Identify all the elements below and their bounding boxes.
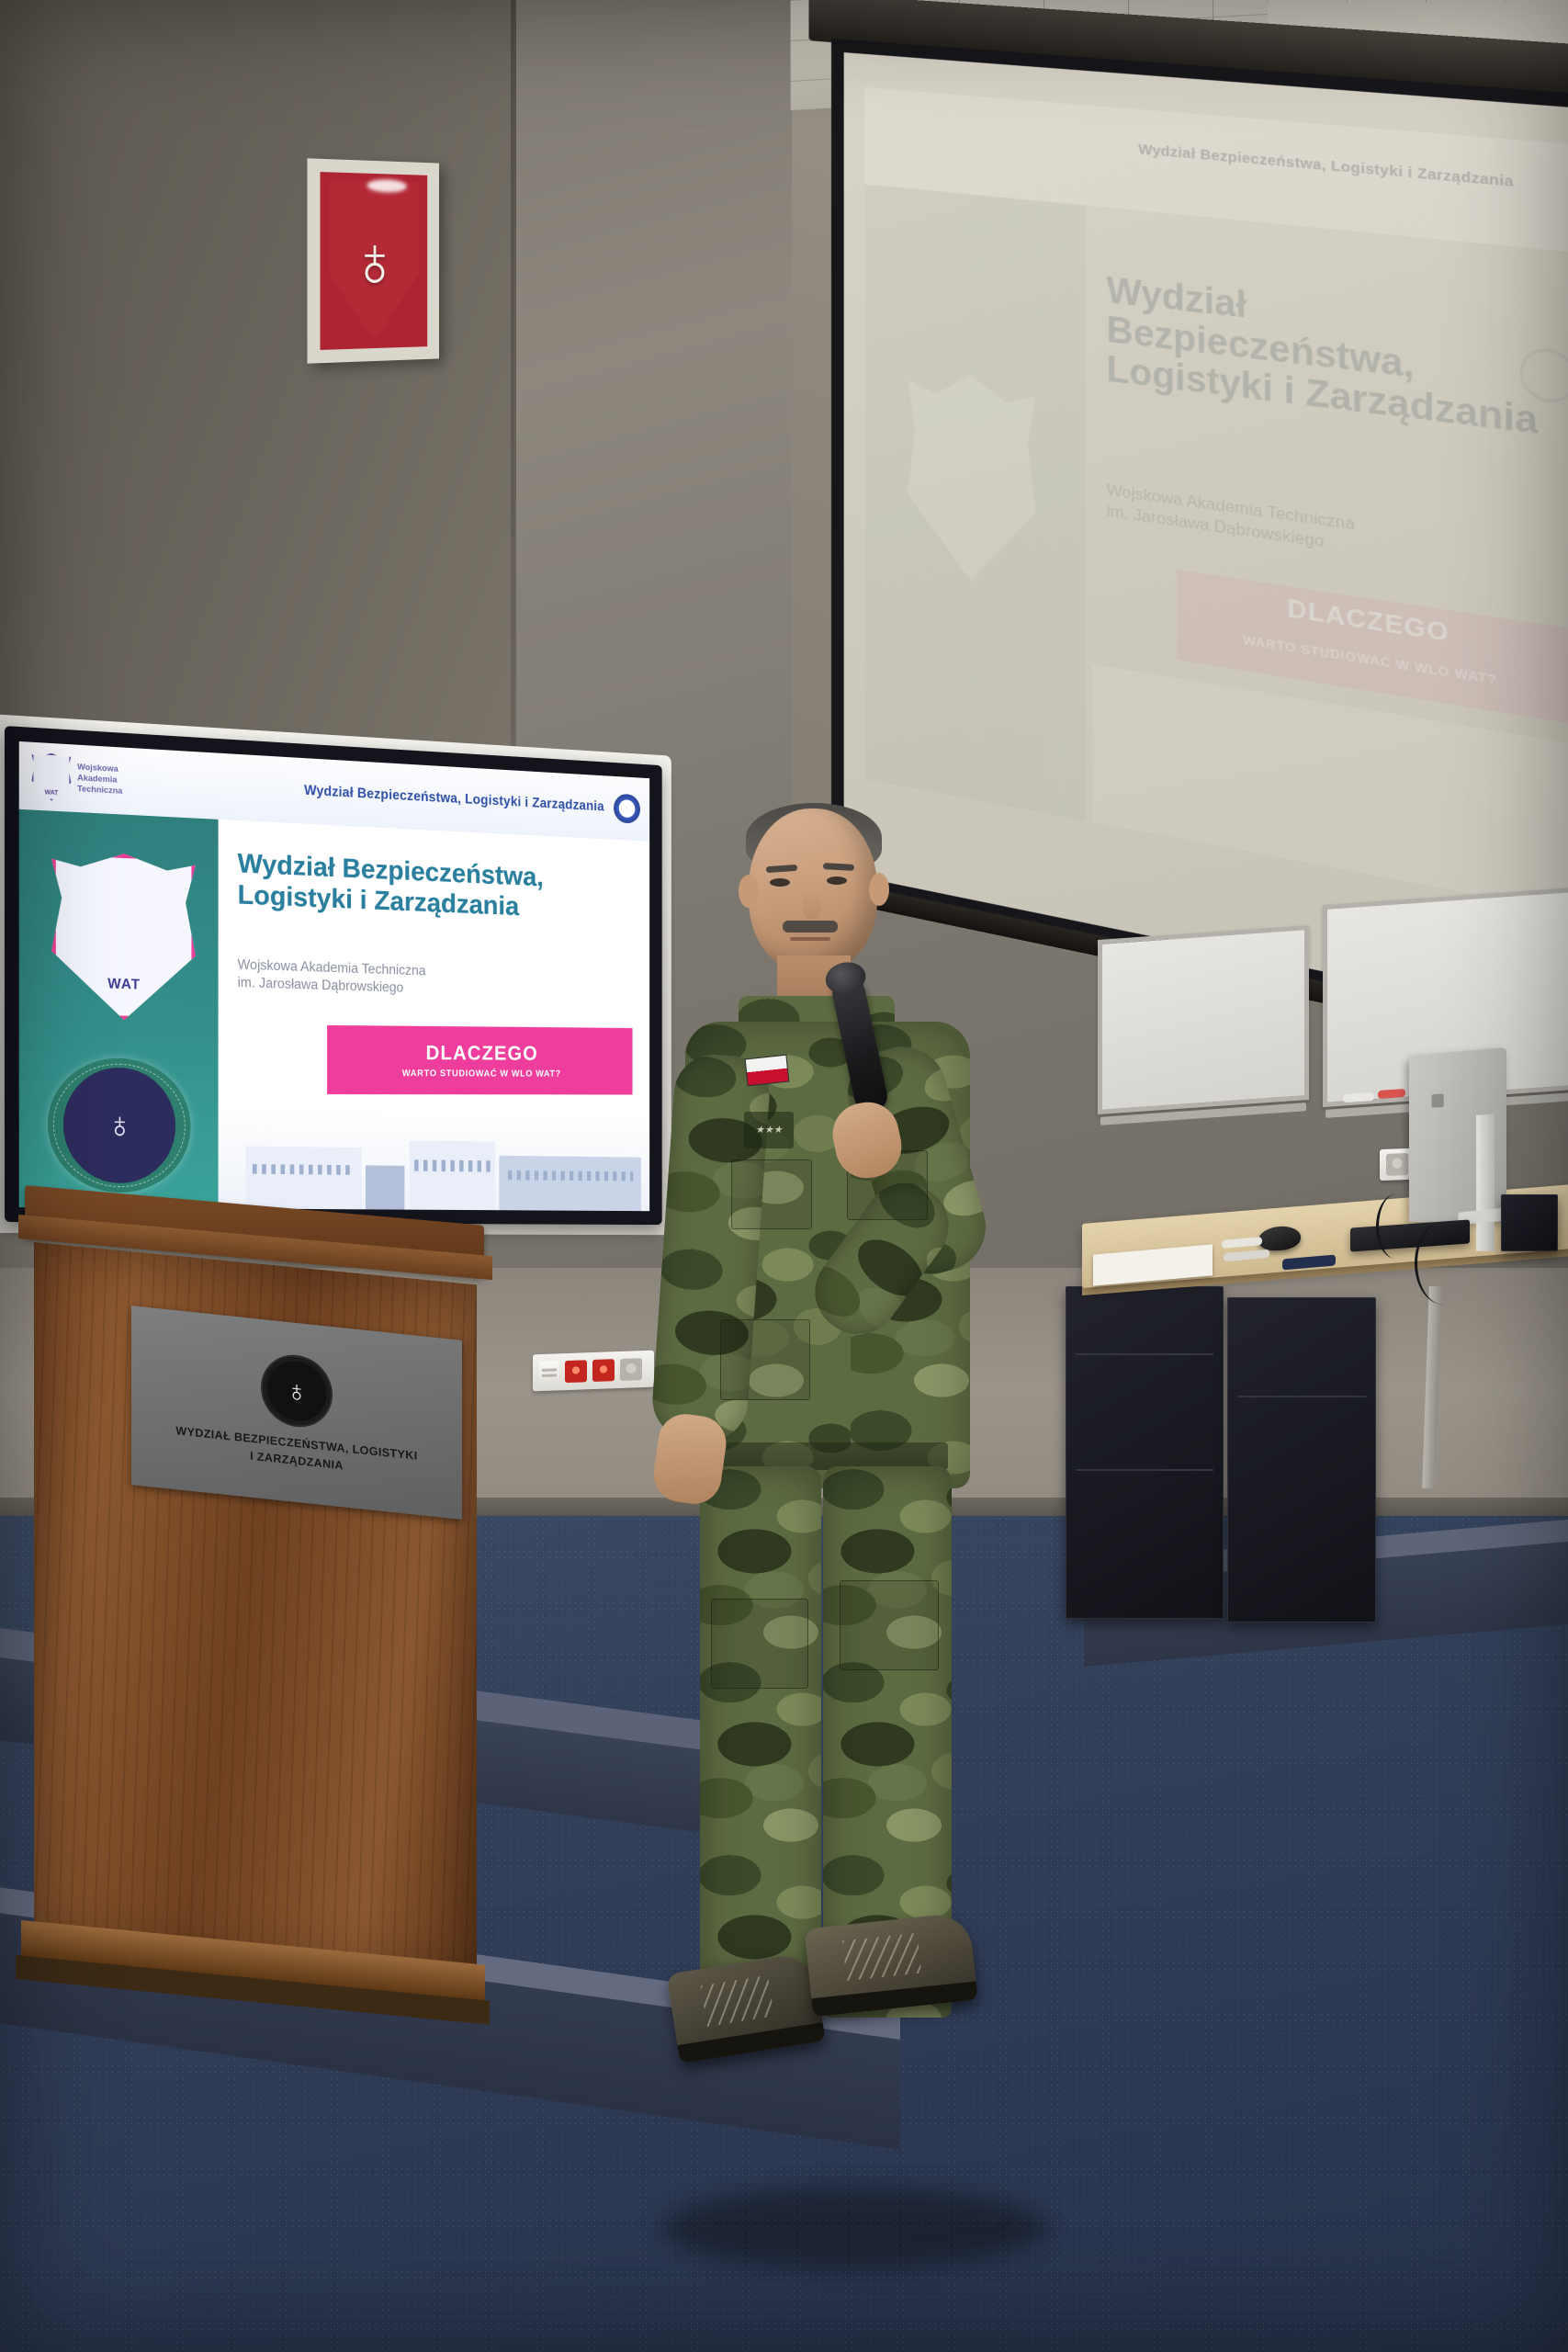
- podium-plaque: ♁ WYDZIAŁ BEZPIECZEŃSTWA, LOGISTYKI I ZA…: [131, 1306, 462, 1520]
- polish-coat-of-arms-plaque: ♁: [307, 158, 439, 363]
- slide-header-title: Wydział Bezpieczeństwa, Logistyki i Zarz…: [304, 783, 604, 815]
- equipment-cabinet-left: [1066, 1286, 1224, 1619]
- whiteboard-left: [1098, 925, 1309, 1114]
- equipment-cabinet-right: [1227, 1297, 1376, 1623]
- faculty-seal-icon: ♁: [48, 1057, 191, 1193]
- projected-slide: Wydział Bezpieczeństwa, Logistyki i Zarz…: [864, 87, 1568, 915]
- cargo-pocket-right: [840, 1580, 939, 1670]
- building-3-windows: [414, 1159, 490, 1171]
- power-socket-red-1[interactable]: [565, 1360, 587, 1383]
- slide-pink-banner: DLACZEGO WARTO STUDIOWAĆ W WLO WAT?: [327, 1025, 632, 1095]
- building-4-windows: [508, 1170, 633, 1181]
- cable-2: [1415, 1222, 1472, 1305]
- leg-left: [700, 1466, 821, 1981]
- cable-1: [1376, 1194, 1416, 1259]
- wat-logo: WAT Wojskowa Akademia Techniczna: [31, 752, 122, 805]
- ear-right: [869, 873, 889, 906]
- cabinet-line-3: [1237, 1396, 1367, 1397]
- building-4: [500, 1156, 642, 1212]
- rank-insignia-patch: ★★★: [744, 1112, 794, 1148]
- switch-socket-icon[interactable]: [539, 1361, 559, 1384]
- left-wall-panel: [0, 0, 514, 827]
- wat-crest-icon: WAT: [51, 850, 196, 1022]
- eye-right: [827, 876, 847, 885]
- desk-monitor-logo-icon: [1432, 1093, 1444, 1107]
- faculty-seal-ring: [53, 1062, 186, 1187]
- speaker-officer: ★★★: [643, 808, 1029, 2297]
- projected-slide-subtitle: Wojskowa Akademia Techniczna im. Jarosła…: [1107, 480, 1568, 586]
- boot-right-laces: [842, 1933, 922, 1982]
- ear-left: [739, 875, 759, 908]
- power-socket-red-2[interactable]: [592, 1359, 615, 1382]
- side-pocket: [720, 1319, 810, 1400]
- chest-pocket-left: [731, 1159, 812, 1229]
- power-brick: [1501, 1194, 1558, 1251]
- wall-display-monitor[interactable]: WAT Wojskowa Akademia Techniczna Wydział…: [5, 726, 662, 1225]
- slide-left-teal-panel: WAT ♁: [19, 808, 219, 1208]
- banner-headline: DLACZEGO: [426, 1043, 538, 1063]
- projected-slide-title: Wydział Bezpieczeństwa, Logistyki i Zarz…: [1107, 272, 1568, 447]
- lectern-podium: ♁ WYDZIAŁ BEZPIECZEŃSTWA, LOGISTYKI I ZA…: [14, 1185, 491, 2012]
- boot-left-laces: [701, 1975, 774, 2027]
- slide-body: WAT ♁ Wydział Bezpieczeństwa, Logistyki …: [19, 808, 649, 1211]
- wat-shield-icon: WAT: [31, 752, 71, 802]
- podium-plaque-text: WYDZIAŁ BEZPIECZEŃSTWA, LOGISTYKI I ZARZ…: [168, 1422, 424, 1484]
- wat-logo-words: Wojskowa Akademia Techniczna: [77, 763, 122, 797]
- projected-slide-left-panel: [864, 184, 1086, 820]
- moustache: [783, 921, 838, 933]
- projected-wat-crest-icon: [908, 367, 1036, 591]
- slide-title: Wydział Bezpieczeństwa, Logistyki i Zarz…: [238, 847, 632, 926]
- monitor-screen: WAT Wojskowa Akademia Techniczna Wydział…: [19, 741, 649, 1211]
- eye-left: [770, 878, 790, 887]
- podium-seal-icon: ♁: [261, 1351, 333, 1430]
- desk-computer-monitor[interactable]: [1409, 1047, 1506, 1222]
- data-socket-grey-3[interactable]: [1386, 1153, 1408, 1176]
- wall-seam: [511, 0, 516, 854]
- boot-right: [804, 1912, 977, 2017]
- cargo-pocket-left: [711, 1599, 808, 1689]
- desk-monitor-stand: [1476, 1114, 1495, 1251]
- slide-subtitle: Wojskowa Akademia Techniczna im. Jarosła…: [238, 956, 632, 1005]
- lecture-hall-photo: ♁ Wydział Bezpieczeństwa, Logistyki i Za…: [0, 0, 1568, 2352]
- cabinet-line-2: [1076, 1469, 1213, 1471]
- boot-left-sole: [678, 2022, 826, 2064]
- data-socket-grey[interactable]: [620, 1358, 642, 1381]
- cabinet-line-1: [1076, 1353, 1213, 1355]
- wall-outlet-panel-left[interactable]: [533, 1351, 654, 1392]
- nose: [803, 888, 821, 919]
- slide-header-seal-icon: ♁: [614, 793, 640, 823]
- banner-subline: WARTO STUDIOWAĆ W WLO WAT?: [402, 1068, 561, 1079]
- building-1-windows: [253, 1164, 355, 1175]
- mouth: [790, 937, 830, 941]
- boot-left: [666, 1951, 825, 2064]
- emblem-shield: ♁: [329, 179, 419, 343]
- emblem-red-field: ♁: [320, 172, 427, 350]
- polish-flag-patch-icon: [745, 1055, 790, 1087]
- white-eagle-icon: ♁: [349, 225, 400, 298]
- rank-stars-icon: ★★★: [755, 1125, 783, 1136]
